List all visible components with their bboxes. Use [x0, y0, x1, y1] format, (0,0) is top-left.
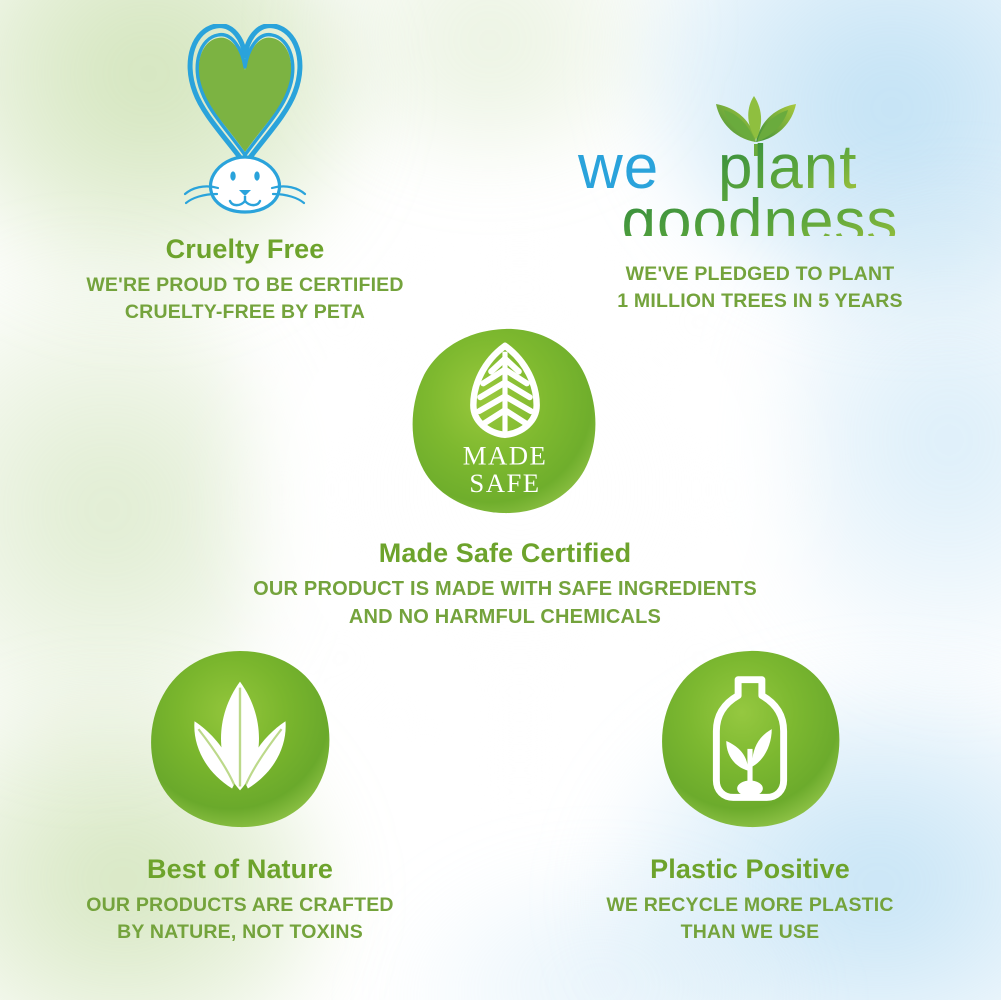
panel-description: OUR PRODUCT IS MADE WITH SAFE INGREDIENT…	[195, 576, 815, 631]
panel-made-safe: MADE SAFE Made Safe Certified OUR PRODUC…	[195, 326, 815, 631]
badge-text-safe: SAFE	[469, 468, 540, 498]
peta-bunny-icon	[170, 24, 320, 214]
panel-title: Made Safe Certified	[195, 538, 815, 569]
logo-word-goodness: goodness	[622, 187, 899, 236]
best-of-nature-badge-holder	[35, 648, 445, 830]
we-plant-goodness-logo-holder: we plant goodness	[540, 96, 980, 236]
panel-best-of-nature: Best of Nature OUR PRODUCTS ARE CRAFTED …	[35, 648, 445, 946]
bunny-eye-right	[254, 171, 259, 180]
bottle-sprout-badge-icon	[655, 648, 845, 830]
bunny-eye-left	[230, 171, 235, 180]
panel-description: WE RECYCLE MORE PLASTIC THAN WE USE	[545, 892, 955, 946]
panel-title: Best of Nature	[35, 854, 445, 885]
made-safe-badge-holder: MADE SAFE	[195, 326, 815, 516]
panel-title: Plastic Positive	[545, 854, 955, 885]
panel-description: OUR PRODUCTS ARE CRAFTED BY NATURE, NOT …	[35, 892, 445, 946]
panel-title: Cruelty Free	[20, 234, 470, 265]
panel-description: WE'RE PROUD TO BE CERTIFIED CRUELTY-FREE…	[20, 272, 470, 326]
title-spacer	[540, 236, 980, 254]
made-safe-leaf-badge-icon: MADE SAFE	[406, 326, 604, 516]
panel-description: WE'VE PLEDGED TO PLANT 1 MILLION TREES I…	[540, 261, 980, 315]
sustainability-claims-infographic: Cruelty Free WE'RE PROUD TO BE CERTIFIED…	[0, 0, 1001, 1000]
panel-cruelty-free: Cruelty Free WE'RE PROUD TO BE CERTIFIED…	[20, 24, 470, 326]
badge-text-made: MADE	[463, 441, 548, 471]
cruelty-free-logo-holder	[20, 24, 470, 214]
plastic-positive-badge-holder	[545, 648, 955, 830]
panel-plastic-positive: Plastic Positive WE RECYCLE MORE PLASTIC…	[545, 648, 955, 946]
panel-we-plant-goodness: we plant goodness WE'VE PLEDGED TO PLANT…	[540, 96, 980, 315]
three-leaves-badge-icon	[145, 648, 335, 830]
we-plant-goodness-wordmark-icon: we plant goodness	[560, 96, 960, 236]
